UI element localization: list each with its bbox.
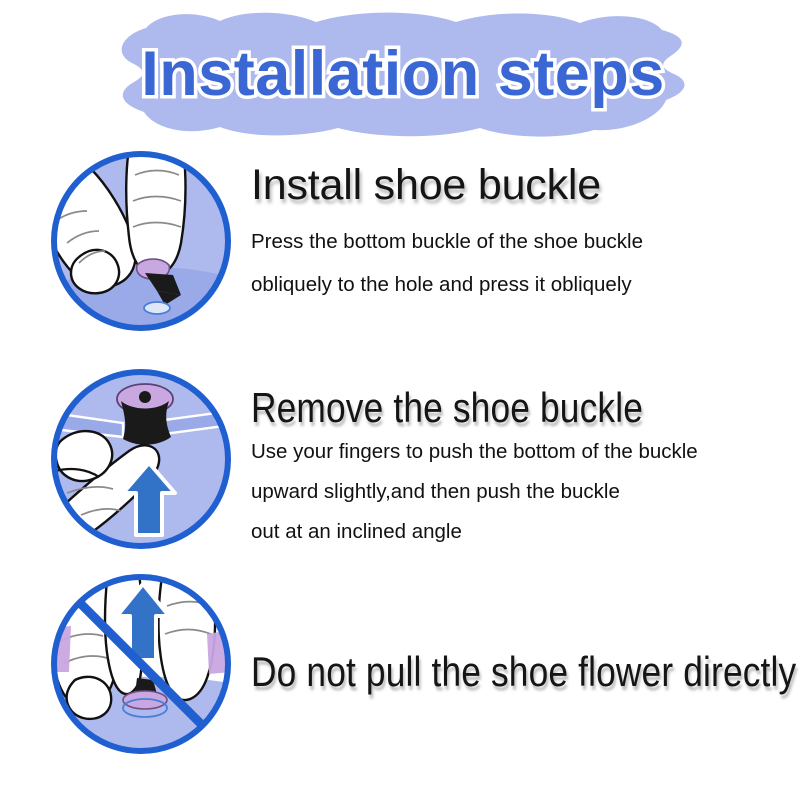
step-remove-shoe-buckle: Remove the shoe buckle Use your fingers …	[0, 363, 800, 558]
remove-shoe-buckle-illustration	[45, 363, 237, 555]
banner-title: Installation steps	[88, 8, 718, 140]
step-1-lines: Press the bottom buckle of the shoe buck…	[251, 230, 780, 297]
install-shoe-buckle-illustration	[45, 145, 237, 337]
step-1-text: Install shoe buckle Press the bottom buc…	[251, 163, 780, 316]
do-not-pull-illustration	[45, 568, 237, 760]
step-2-line-1: Use your fingers to push the bottom of t…	[251, 440, 780, 464]
step-install-shoe-buckle: Install shoe buckle Press the bottom buc…	[0, 145, 800, 340]
step-3-heading: Do not pull the shoe flower directly	[251, 650, 695, 694]
title-banner: Installation steps	[88, 8, 718, 140]
step-2-line-2: upward slightly,and then push the buckle	[251, 480, 780, 504]
step-2-heading: Remove the shoe buckle	[251, 386, 695, 430]
step-3-text: Do not pull the shoe flower directly	[251, 650, 780, 694]
step-2-text: Remove the shoe buckle Use your fingers …	[251, 386, 780, 560]
step-2-lines: Use your fingers to push the bottom of t…	[251, 440, 780, 544]
step-1-line-1: Press the bottom buckle of the shoe buck…	[251, 230, 780, 254]
step-1-line-2: obliquely to the hole and press it obliq…	[251, 273, 780, 297]
step-1-heading: Install shoe buckle	[251, 163, 780, 208]
step-2-line-3: out at an inclined angle	[251, 520, 780, 544]
step-do-not-pull: Do not pull the shoe flower directly	[0, 568, 800, 758]
